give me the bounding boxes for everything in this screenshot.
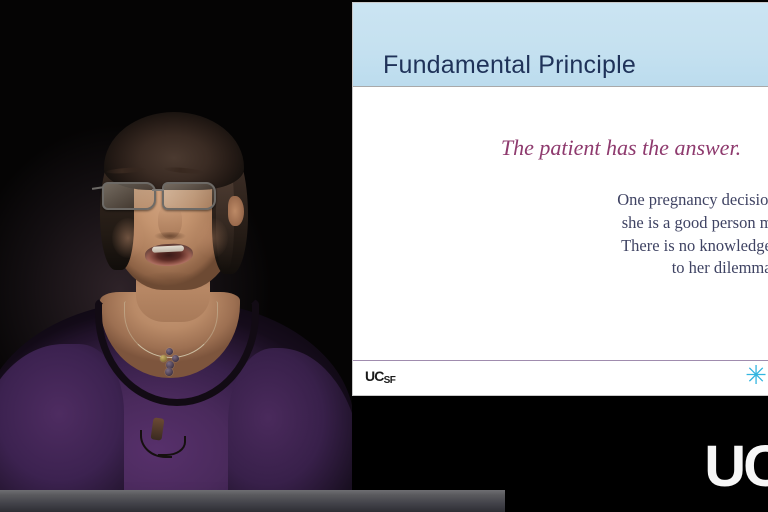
- video-frame: Fundamental Principle The patient has th…: [0, 0, 768, 512]
- ucsf-logo-sub: SF: [384, 375, 396, 386]
- presenter-cheek-right: [196, 218, 228, 258]
- presenter-cheek-left: [112, 218, 144, 258]
- slide-title: Fundamental Principle: [383, 51, 636, 80]
- asterisk-star-icon: ✳: [745, 365, 767, 389]
- slide-footer: UCSF ✳: [353, 360, 768, 395]
- slide-subtitle: The patient has the answer.: [411, 135, 768, 161]
- ucsf-logo: UCSF: [365, 369, 395, 386]
- necklace-pendant: [160, 348, 179, 375]
- presenter-shoulder-left: [0, 344, 124, 512]
- eyeglass-lens-left: [102, 182, 156, 210]
- nose-shadow: [154, 232, 186, 240]
- presenter-video-pane: [0, 0, 352, 512]
- slide-body-text: One pregnancy decision is not “more mora…: [401, 189, 768, 280]
- uc-watermark: UC: [704, 438, 768, 496]
- slide-body: The patient has the answer. One pregnanc…: [353, 89, 768, 363]
- desk-surface: [0, 490, 505, 512]
- presenter-ear-right: [228, 196, 244, 226]
- presentation-slide: Fundamental Principle The patient has th…: [352, 2, 768, 396]
- ucsf-logo-main: UC: [365, 368, 384, 384]
- slide-header: Fundamental Principle: [353, 3, 768, 87]
- presenter-chin-shadow: [140, 272, 202, 288]
- eyeglass-bridge: [152, 189, 164, 191]
